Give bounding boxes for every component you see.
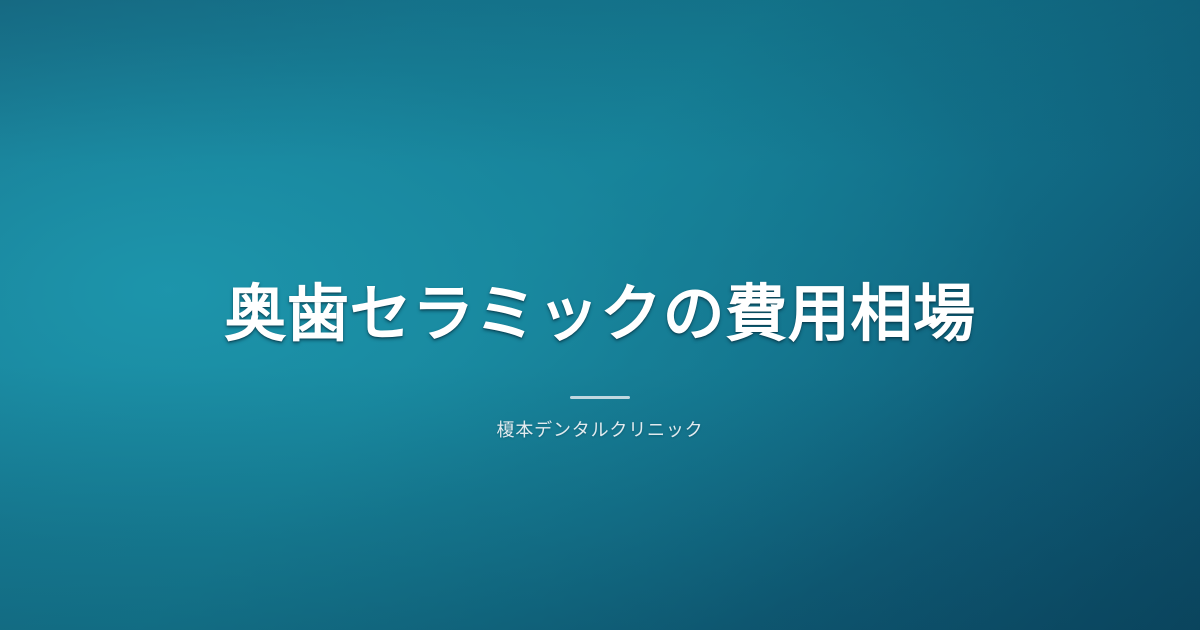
page-title: 奥歯セラミックの費用相場 <box>224 275 975 354</box>
card-content: 奥歯セラミックの費用相場 榎本デンタルクリニック <box>0 0 1200 630</box>
meta-block: 榎本デンタルクリニック <box>0 396 1200 444</box>
divider-rule <box>570 396 630 399</box>
share-card: 奥歯セラミックの費用相場 榎本デンタルクリニック <box>0 0 1200 630</box>
title-block: 奥歯セラミックの費用相場 <box>0 275 1200 354</box>
site-name: 榎本デンタルクリニック <box>497 417 704 444</box>
